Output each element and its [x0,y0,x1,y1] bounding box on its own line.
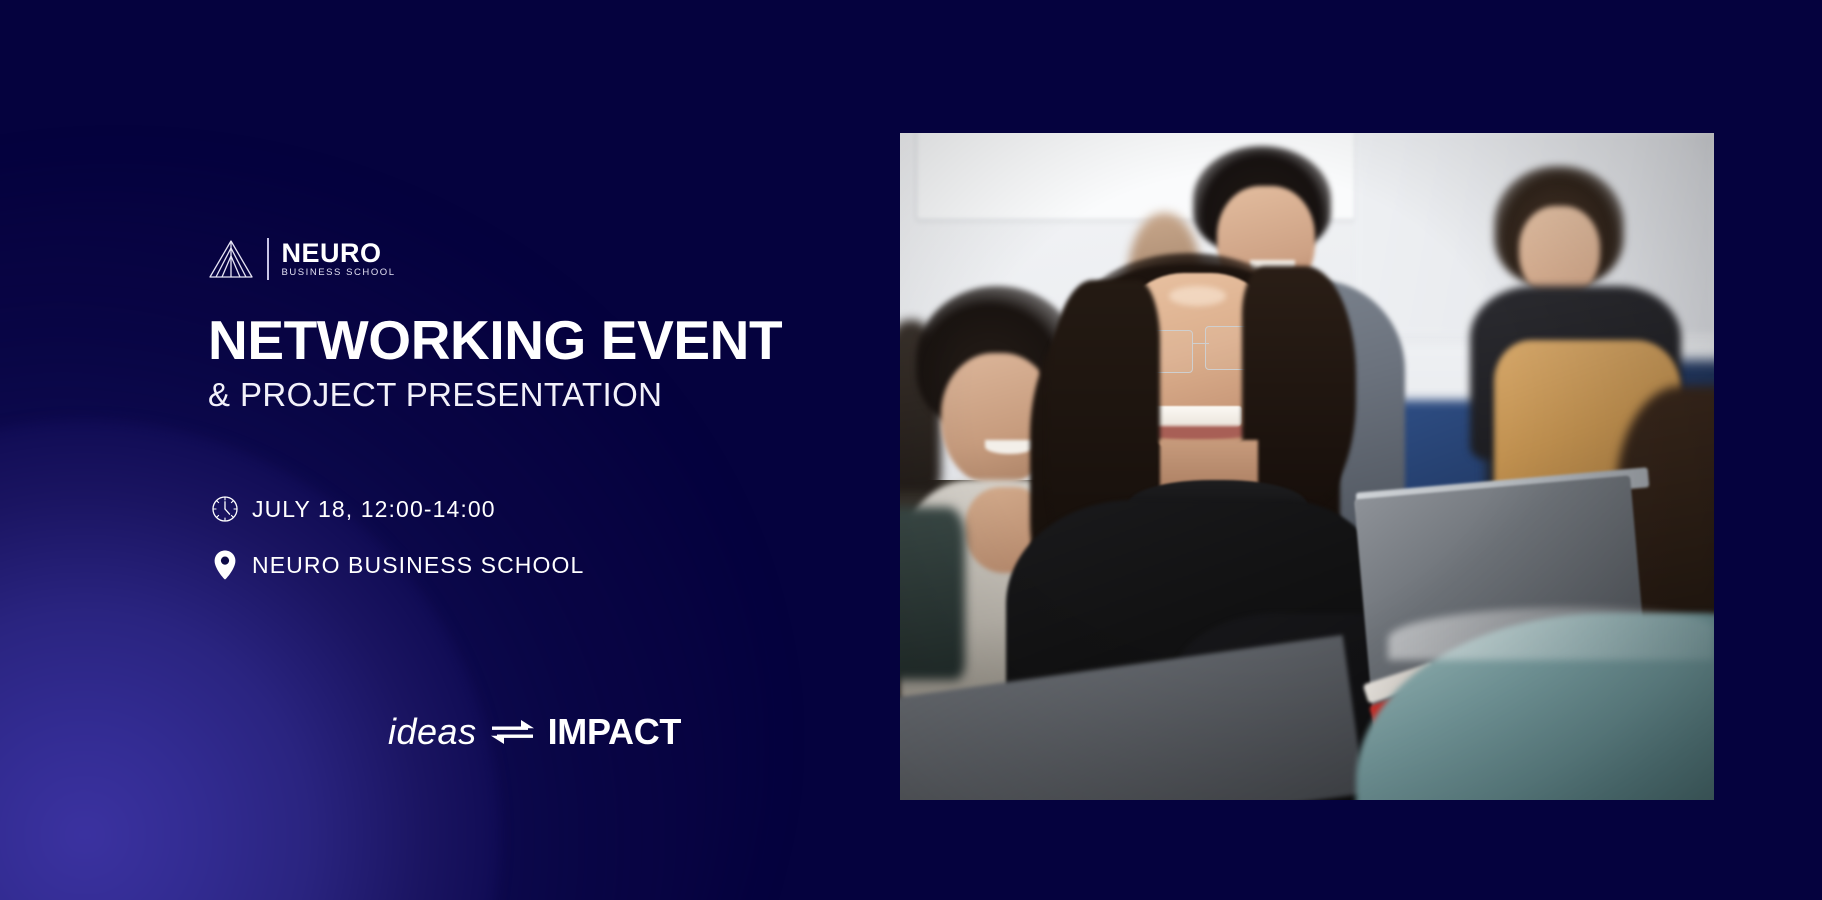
brand-name: NEURO [282,240,396,267]
triangle-mountain-icon [208,238,254,280]
photo-center-glasses-bridge [1193,343,1209,344]
content-column: NEURO BUSINESS SCHOOL NETWORKING EVENT &… [208,0,848,900]
event-photo [900,133,1714,800]
impact-word: IMPACT [548,714,682,750]
ideas-impact-logo: ideas IMPACT [388,710,681,754]
photo-center-smile [1152,406,1242,428]
detail-row-location: NEURO BUSINESS SCHOOL [208,548,584,582]
brand-divider [267,238,269,280]
detail-row-time: JULY 18, 12:00-14:00 [208,492,584,526]
detail-text-time: JULY 18, 12:00-14:00 [252,498,496,521]
photo-center-lower-lip [1144,426,1250,439]
ideas-word: ideas [388,714,477,750]
page-subtitle: & PROJECT PRESENTATION [208,378,662,411]
page-title: NETWORKING EVENT [208,313,782,368]
photo-foreground-left-dark [900,507,965,680]
event-banner: NEURO BUSINESS SCHOOL NETWORKING EVENT &… [0,0,1822,900]
double-harpoon-arrow-icon [490,716,535,748]
brand-text: NEURO BUSINESS SCHOOL [282,240,396,278]
photo-center-hair-right [1242,266,1356,506]
clock-icon [208,492,242,526]
detail-text-location: NEURO BUSINESS SCHOOL [252,554,584,577]
brand-tagline: BUSINESS SCHOOL [282,268,396,278]
event-details: JULY 18, 12:00-14:00 NEURO BUSINESS SCHO… [208,492,584,582]
location-pin-icon [208,548,242,582]
brand-logo: NEURO BUSINESS SCHOOL [208,236,396,282]
